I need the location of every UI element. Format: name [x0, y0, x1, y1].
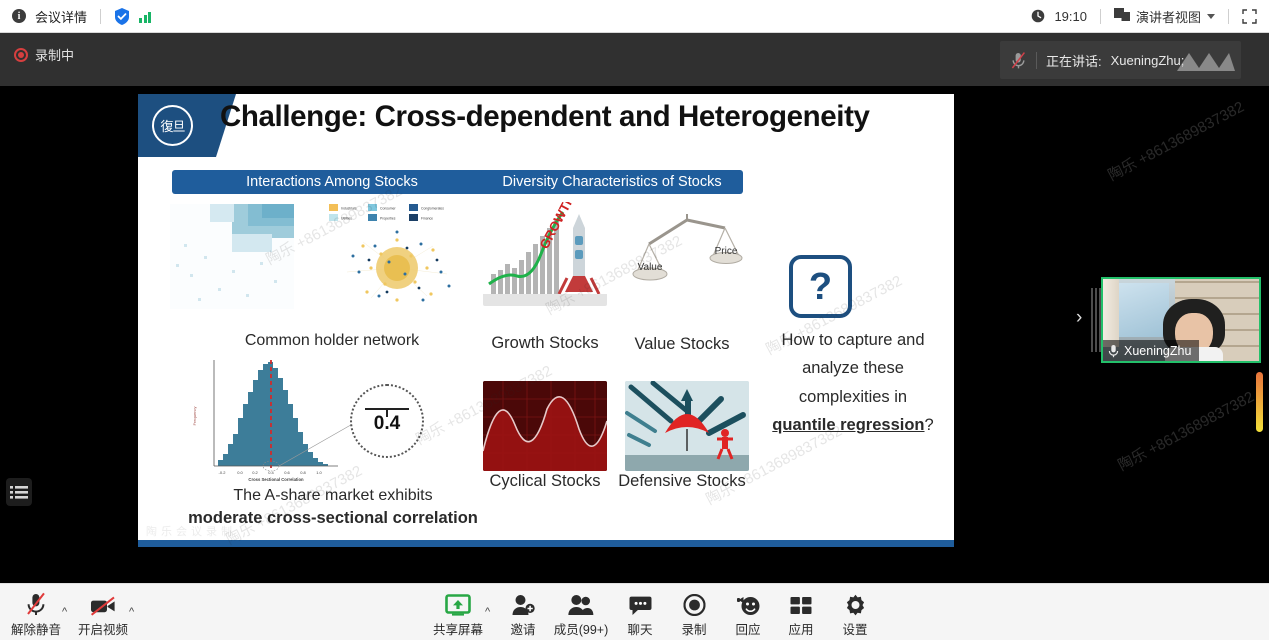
clock-icon — [1031, 9, 1045, 23]
video-window — [1111, 283, 1169, 337]
slide-footer-bar — [138, 540, 954, 547]
caption-common-holder-network: Common holder network — [172, 332, 492, 350]
video-participant-name: XueningZhu — [1124, 344, 1191, 358]
toolbar-label-start-video: 开启视频 — [78, 619, 128, 638]
meeting-details-label[interactable]: 会议详情 — [35, 7, 87, 26]
signal-strength-icon[interactable] — [139, 10, 151, 23]
logo-seal-text: 復旦 — [160, 116, 184, 135]
logo-seal-icon: 復旦 — [152, 105, 193, 146]
side-scrollbar[interactable] — [1256, 372, 1263, 432]
info-icon: i — [12, 9, 26, 23]
chevron-right-icon[interactable]: › — [1076, 308, 1082, 327]
divider — [1228, 9, 1229, 24]
clock-time: 19:10 — [1054, 9, 1087, 24]
toolbar-item-settings[interactable]: 设置 — [842, 591, 867, 638]
camera-options-caret[interactable]: ^ — [129, 606, 134, 618]
svg-text:Price: Price — [715, 246, 738, 257]
caption-growth-stocks: Growth Stocks — [478, 334, 612, 353]
slide-header: 復旦 Challenge: Cross-dependent and Hetero… — [138, 94, 954, 157]
gear-icon — [844, 591, 866, 616]
correlation-callout: 0.4 — [350, 384, 424, 458]
panel-drag-handle[interactable] — [1091, 288, 1101, 352]
toolbar-item-chat[interactable]: 聊天 — [627, 591, 652, 638]
toolbar-item-start-video[interactable]: 开启视频 — [78, 591, 128, 638]
mic-options-caret[interactable]: ^ — [62, 606, 67, 618]
top-bar: i 会议详情 19:10 演讲者视图 — [0, 0, 1269, 33]
shield-icon[interactable] — [114, 8, 130, 25]
speaker-view-selector[interactable]: 演讲者视图 — [1114, 7, 1215, 26]
svg-text:Cross Sectional Correlation: Cross Sectional Correlation — [248, 477, 304, 482]
recording-label: 录制中 — [35, 45, 74, 64]
recording-indicator: 录制中 — [14, 45, 74, 64]
divider — [1100, 9, 1101, 24]
section-header-diversity: Diversity Characteristics of Stocks — [481, 170, 743, 194]
question-mark-glyph: ? — [809, 268, 832, 306]
question-mark-box: ? — [789, 255, 852, 318]
svg-text:Utilities: Utilities — [341, 216, 352, 220]
svg-text:Frequency: Frequency — [192, 407, 197, 426]
caption-cyclical-stocks: Cyclical Stocks — [478, 472, 612, 491]
toolbar-label-chat: 聊天 — [627, 619, 652, 638]
record-circle-icon — [683, 591, 705, 616]
question-line-1: How to capture and — [781, 331, 924, 349]
svg-text:1.0: 1.0 — [316, 470, 322, 475]
caption-value-stocks: Value Stocks — [615, 335, 749, 354]
invite-person-icon — [511, 591, 535, 616]
mic-on-icon — [1108, 344, 1119, 358]
toolbar-item-unmute[interactable]: 解除静音 — [11, 591, 61, 638]
question-emphasis: quantile regression — [772, 416, 924, 434]
common-holder-network-image: Industrials Consumer Conglomerates Utili… — [323, 202, 471, 314]
section-header-interactions: Interactions Among Stocks — [172, 170, 492, 194]
caption-defensive-stocks: Defensive Stocks — [615, 472, 749, 491]
callout-bracket-icon — [365, 408, 409, 410]
toolbar-label-participants: 成员(99+) — [554, 619, 609, 638]
question-line-2: analyze these — [802, 359, 904, 377]
video-name-label: XueningZhu — [1103, 340, 1199, 361]
record-dot-icon — [14, 48, 28, 62]
toolbar-item-apps[interactable]: 应用 — [788, 591, 813, 638]
toolbar-item-record[interactable]: 录制 — [681, 591, 706, 638]
slide-footer-watermark: 陶乐会议录制 — [146, 523, 236, 539]
svg-text:-0.2: -0.2 — [219, 470, 227, 475]
presentation-slide: 復旦 Challenge: Cross-dependent and Hetero… — [138, 94, 954, 547]
chat-bubble-icon — [628, 591, 652, 616]
speaking-prefix: 正在讲话: — [1046, 51, 1102, 70]
share-options-caret[interactable]: ^ — [485, 606, 490, 618]
cyclical-stocks-image — [483, 381, 607, 471]
participant-video-tile[interactable]: XueningZhu — [1101, 277, 1261, 363]
participants-icon — [568, 591, 594, 616]
fullscreen-icon[interactable] — [1242, 9, 1257, 24]
correlation-heatmap-image — [170, 204, 294, 309]
speaker-view-icon — [1114, 8, 1130, 25]
toolbar-label-unmute: 解除静音 — [11, 619, 61, 638]
growth-stocks-image: GROWTH — [483, 202, 607, 306]
question-line-3: complexities in — [799, 388, 907, 406]
camera-off-icon — [90, 591, 116, 616]
chevron-down-icon — [1207, 14, 1215, 19]
divider — [100, 9, 101, 24]
value-stocks-image: Value Price — [625, 202, 749, 306]
audio-wave-icon — [1175, 49, 1235, 76]
toolbar-label-apps: 应用 — [788, 619, 813, 638]
meeting-toolbar: 解除静音 ^ 开启视频 ^ 共享屏幕 ^ 邀请 成员(99+) 聊天 — [0, 583, 1269, 640]
list-view-icon[interactable] — [6, 478, 32, 506]
toolbar-label-settings: 设置 — [842, 619, 867, 638]
svg-text:Value: Value — [638, 262, 663, 273]
toolbar-label-share-screen: 共享屏幕 — [433, 619, 483, 638]
toolbar-item-reactions[interactable]: 回应 — [735, 591, 760, 638]
toolbar-item-invite[interactable]: 邀请 — [510, 591, 535, 638]
speaker-view-label: 演讲者视图 — [1136, 7, 1201, 26]
svg-text:Conglomerates: Conglomerates — [421, 206, 444, 210]
apps-grid-icon — [790, 591, 812, 616]
toolbar-label-invite: 邀请 — [510, 619, 535, 638]
speaking-name: XueningZhu; — [1111, 53, 1185, 68]
fudan-university-logo: 復旦 — [138, 94, 216, 157]
toolbar-label-reactions: 回应 — [735, 619, 760, 638]
question-suffix: ? — [925, 416, 934, 434]
toolbar-item-share-screen[interactable]: 共享屏幕 — [433, 591, 483, 638]
cross-sectional-correlation-histogram: -0.20.00.2 0.40.60.8 1.0 Cross Sectional… — [188, 356, 358, 482]
svg-text:Industrials: Industrials — [341, 206, 357, 210]
share-screen-icon — [445, 591, 471, 616]
svg-text:0.6: 0.6 — [284, 470, 290, 475]
svg-text:Finance: Finance — [421, 216, 433, 220]
active-speaker-indicator: 正在讲话: XueningZhu; — [1000, 41, 1241, 79]
question-text: How to capture and analyze these complex… — [758, 326, 948, 440]
mic-muted-icon — [1010, 51, 1027, 70]
svg-text:Consumer: Consumer — [380, 206, 397, 210]
toolbar-label-record: 录制 — [681, 619, 706, 638]
svg-text:0.8: 0.8 — [300, 470, 306, 475]
caption-ashare-line1: The A-share market exhibits — [233, 487, 432, 504]
mic-muted-icon — [25, 591, 47, 616]
svg-text:Properties: Properties — [380, 216, 396, 220]
reactions-icon — [736, 591, 760, 616]
slide-title: Challenge: Cross-dependent and Heterogen… — [220, 100, 944, 134]
video-curtain — [1103, 279, 1119, 347]
toolbar-item-participants[interactable]: 成员(99+) — [554, 591, 609, 638]
svg-text:0.0: 0.0 — [237, 470, 243, 475]
divider — [1036, 52, 1037, 69]
svg-text:0.2: 0.2 — [252, 470, 258, 475]
defensive-stocks-image — [625, 381, 749, 471]
